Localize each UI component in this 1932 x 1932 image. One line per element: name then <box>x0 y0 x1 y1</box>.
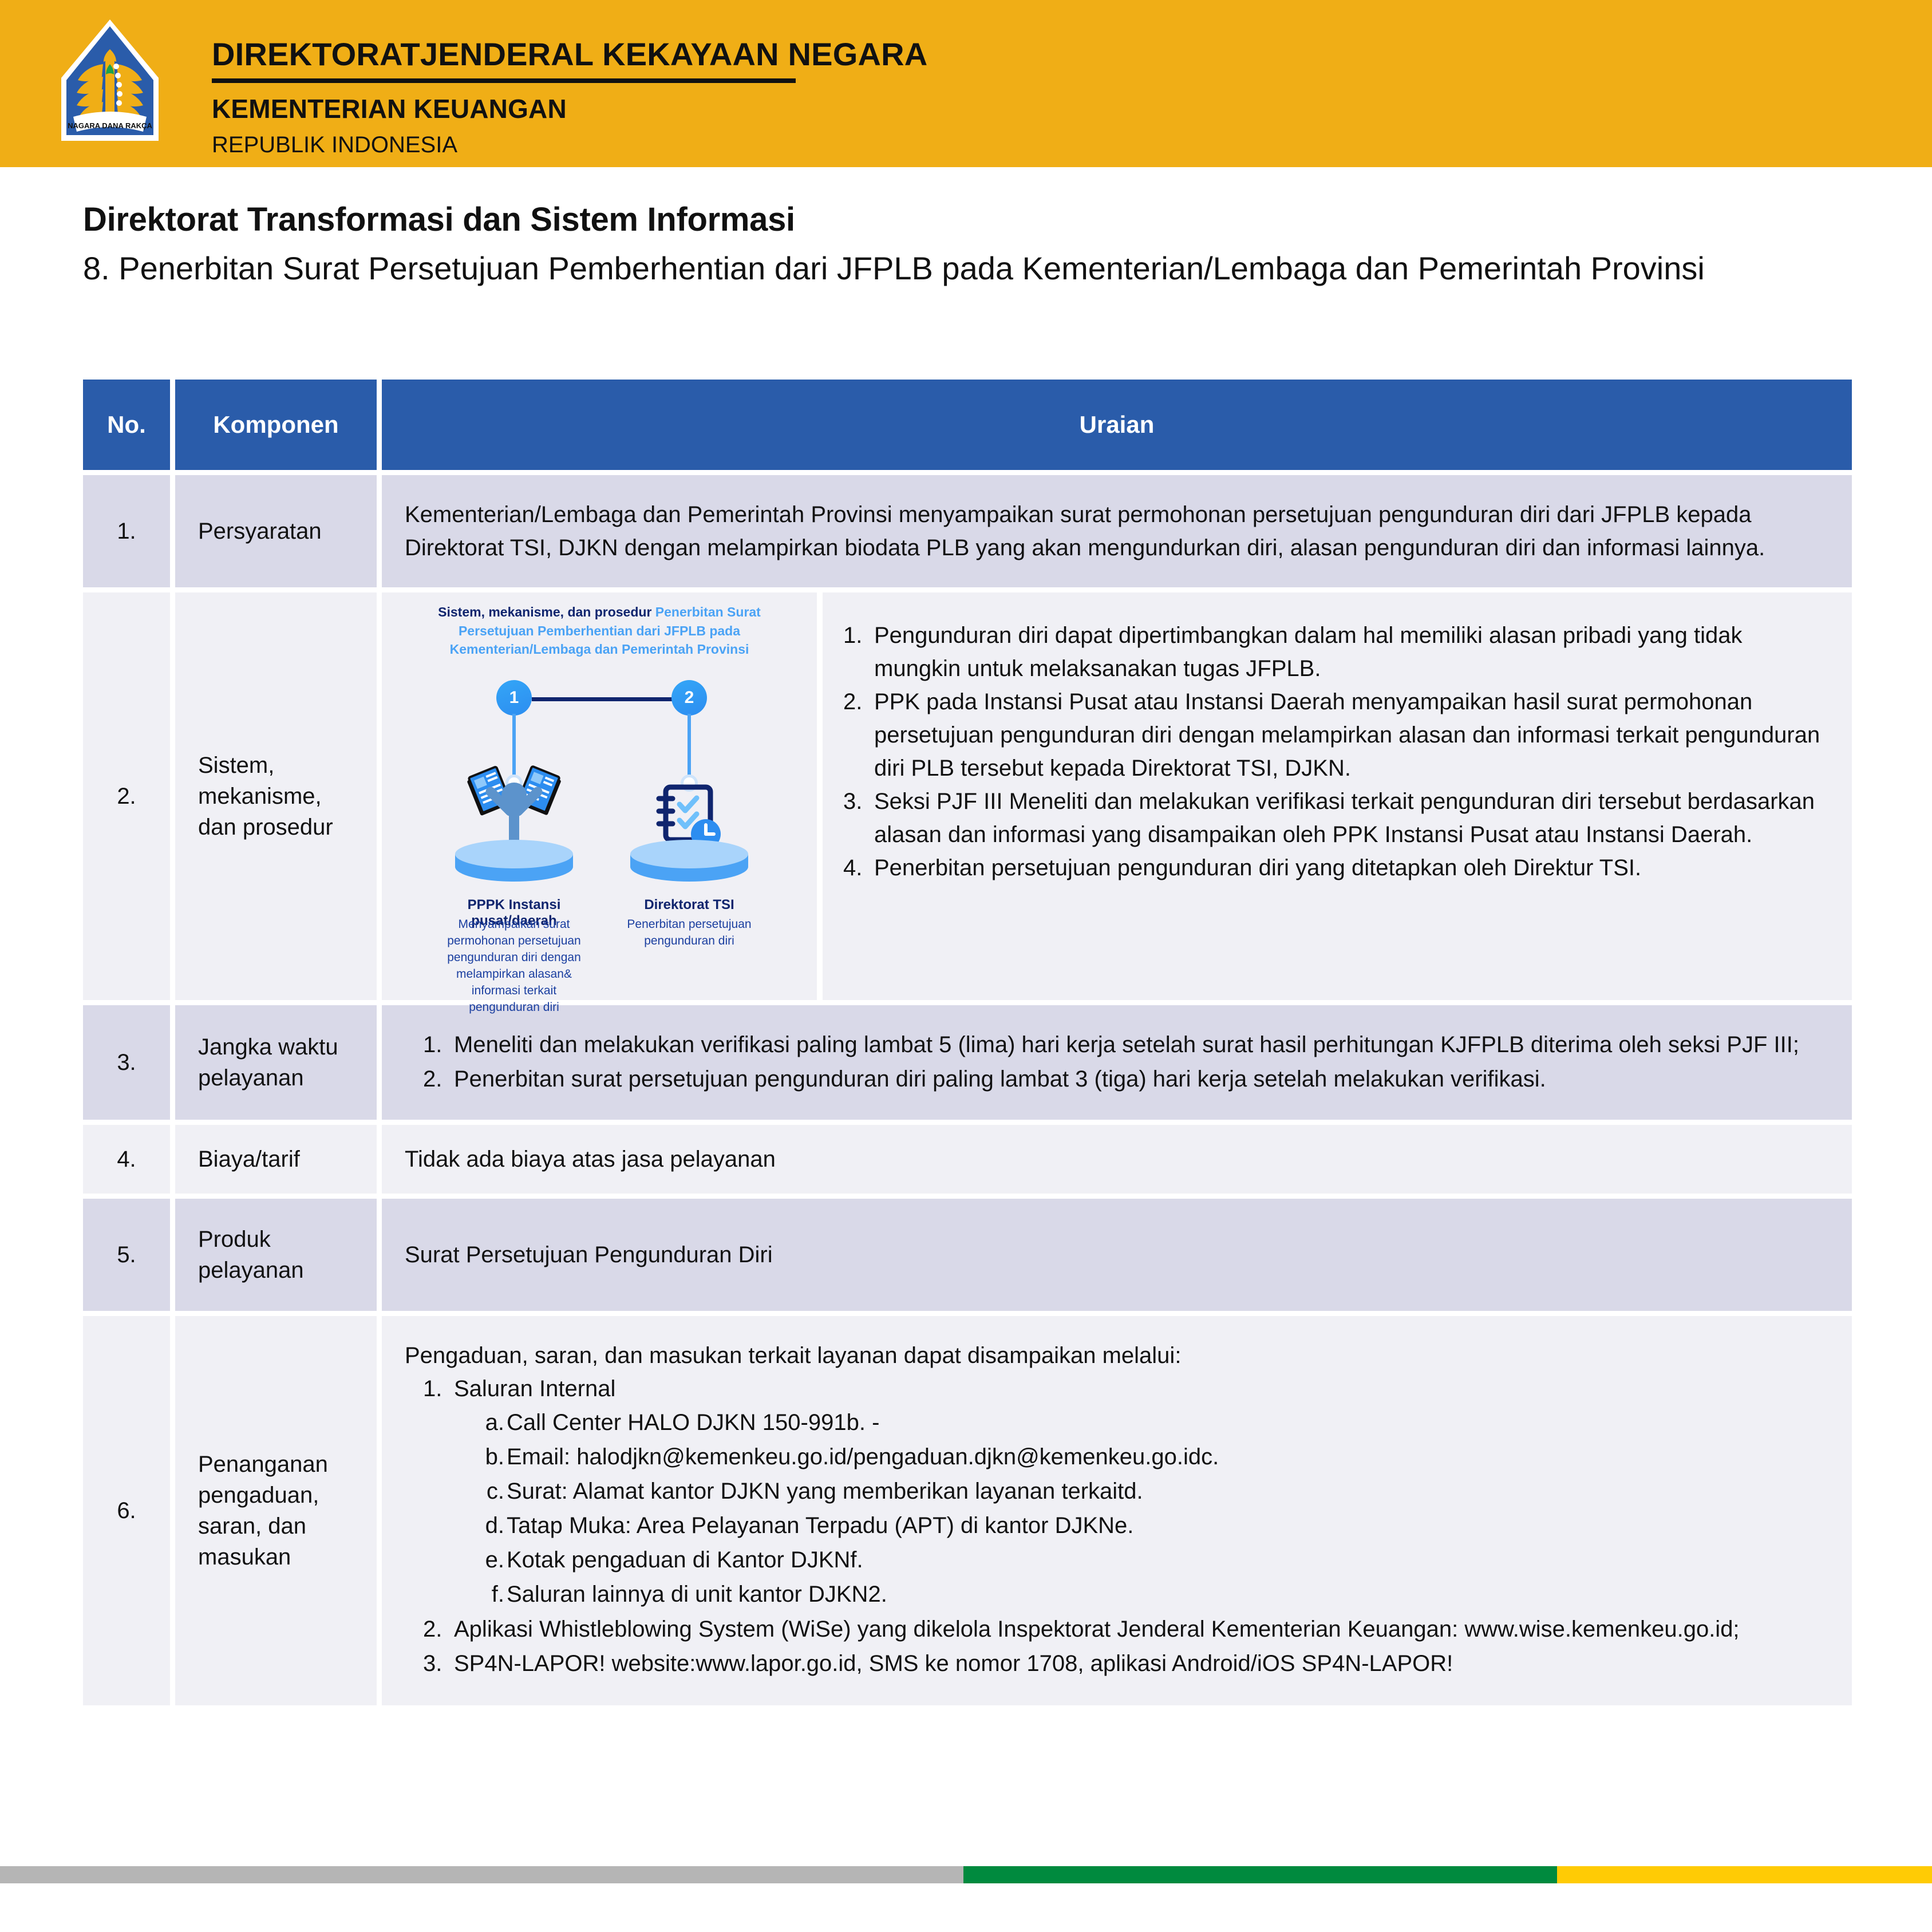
header-title-djkn: DIREKTORATJENDERAL KEKAYAAN NEGARA <box>212 35 927 73</box>
diagram-step-1-description: Menyampaikan surat permohonan persetujua… <box>437 916 591 1016</box>
row-component-label: Sistem, mekanisme, dan prosedur <box>198 750 354 843</box>
complaint-channel-list: Saluran Internal Call Center HALO DJKN 1… <box>423 1372 1829 1680</box>
page-subtitle: 8. Penerbitan Surat Persetujuan Pemberhe… <box>83 249 1795 288</box>
internal-channel-sublist: Call Center HALO DJKN 150-991b. - Email:… <box>480 1405 1829 1611</box>
pedestal-2 <box>630 840 748 889</box>
mechanism-steps-list: Pengunduran diri dapat dipertimbangkan d… <box>823 592 1852 1000</box>
list-item: Email: halodjkn@kemenkeu.go.id/pengaduan… <box>480 1440 1829 1474</box>
table-row: 6. Penanganan pengaduan, saran, dan masu… <box>83 1316 1852 1705</box>
header-title-kemenkeu: KEMENTERIAN KEUANGAN <box>212 93 927 124</box>
list-item: Tatap Muka: Area Pelayanan Terpadu (APT)… <box>480 1508 1829 1543</box>
list-item: PPK pada Instansi Pusat atau Instansi Da… <box>843 685 1823 785</box>
footer-segment-yellow <box>1557 1866 1932 1883</box>
list-item: Surat: Alamat kantor DJKN yang memberika… <box>480 1474 1829 1508</box>
row-number-cell: 1. <box>83 475 170 587</box>
page-footer-bar <box>0 1866 1932 1883</box>
process-flow-diagram: Sistem, mekanisme, dan prosedur Penerbit… <box>382 592 823 1000</box>
row-component-label: Produk pelayanan <box>198 1224 354 1286</box>
connector-line-1-2 <box>532 697 675 701</box>
list-item: Saluran lainnya di unit kantor DJKN2. <box>480 1577 1829 1611</box>
row-component-cell: Biaya/tarif <box>175 1125 377 1194</box>
list-item: Penerbitan surat persetujuan pengunduran… <box>423 1062 1799 1096</box>
table-header-no: No. <box>83 380 170 470</box>
row-description-cell: Meneliti dan melakukan verifikasi paling… <box>382 1005 1852 1120</box>
row-description-cell: Tidak ada biaya atas jasa pelayanan <box>382 1125 1852 1194</box>
diagram-title-dark: Sistem, mekanisme, dan prosedur <box>438 605 651 619</box>
table-row: 5. Produk pelayanan Surat Persetujuan Pe… <box>83 1199 1852 1311</box>
row-component-label: Penanganan pengaduan, saran, dan masukan <box>198 1449 354 1573</box>
row-component-label: Jangka waktu pelayanan <box>198 1032 354 1093</box>
table-row: 3. Jangka waktu pelayanan Meneliti dan m… <box>83 1005 1852 1120</box>
diagram-step-1-badge: 1 <box>496 680 532 716</box>
page-header-band: NAGARA DANA RAKÇA DIREKTORATJENDERAL KEK… <box>0 0 1932 167</box>
row-component-label: Persyaratan <box>198 516 322 547</box>
row-description-text: Tidak ada biaya atas jasa pelayanan <box>405 1143 776 1176</box>
row-number: 2. <box>117 784 136 809</box>
row-description-cell: Sistem, mekanisme, dan prosedur Penerbit… <box>382 592 1852 1000</box>
list-item: Saluran Internal Call Center HALO DJKN 1… <box>423 1372 1829 1611</box>
diagram-canvas: 1 2 <box>382 669 817 915</box>
table-row: 1. Persyaratan Kementerian/Lembaga dan P… <box>83 475 1852 587</box>
row-number-cell: 2. <box>83 592 170 1000</box>
row-description-text: Surat Persetujuan Pengunduran Diri <box>405 1238 773 1271</box>
row-component-cell: Persyaratan <box>175 475 377 587</box>
row-number-cell: 6. <box>83 1316 170 1705</box>
row-description-cell: Kementerian/Lembaga dan Pemerintah Provi… <box>382 475 1852 587</box>
diagram-step-2-description: Penerbitan persetujuan pengunduran diri <box>615 916 763 950</box>
connector-vertical-2 <box>688 714 691 781</box>
logo-motto-text: NAGARA DANA RAKÇA <box>68 121 152 130</box>
header-title-republik: REPUBLIK INDONESIA <box>212 132 927 158</box>
list-item: Call Center HALO DJKN 150-991b. - <box>480 1405 1829 1440</box>
service-time-list: Meneliti dan melakukan verifikasi paling… <box>423 1028 1799 1097</box>
row-number-cell: 3. <box>83 1005 170 1120</box>
list-item: SP4N-LAPOR! website:www.lapor.go.id, SMS… <box>423 1647 1829 1680</box>
complaint-intro-text: Pengaduan, saran, dan masukan terkait la… <box>405 1339 1829 1372</box>
row-number: 5. <box>117 1242 136 1268</box>
list-item: Aplikasi Whistleblowing System (WiSe) ya… <box>423 1613 1829 1646</box>
header-divider-rule <box>212 78 796 83</box>
footer-segment-green <box>963 1866 1557 1883</box>
table-header-komponen: Komponen <box>175 380 377 470</box>
table-header-row: No. Komponen Uraian <box>83 380 1852 470</box>
list-item: Seksi PJF III Meneliti dan melakukan ver… <box>843 785 1823 851</box>
row-component-cell: Jangka waktu pelayanan <box>175 1005 377 1120</box>
diagram-step-2-badge: 2 <box>671 680 707 716</box>
row-number-cell: 5. <box>83 1199 170 1311</box>
list-item: Pengunduran diri dapat dipertimbangkan d… <box>843 619 1823 685</box>
title-block: Direktorat Transformasi dan Sistem Infor… <box>83 200 1800 288</box>
kemenkeu-logo: NAGARA DANA RAKÇA <box>41 16 179 153</box>
row-component-cell: Penanganan pengaduan, saran, dan masukan <box>175 1316 377 1705</box>
diagram-title: Sistem, mekanisme, dan prosedur Penerbit… <box>382 603 817 659</box>
pedestal-1 <box>455 840 573 889</box>
page-title: Direktorat Transformasi dan Sistem Infor… <box>83 200 1800 239</box>
list-item-label: Saluran Internal <box>454 1376 615 1401</box>
table-header-uraian: Uraian <box>382 380 1852 470</box>
header-text-block: DIREKTORATJENDERAL KEKAYAAN NEGARA KEMEN… <box>212 35 927 158</box>
row-component-cell: Produk pelayanan <box>175 1199 377 1311</box>
diagram-step-2-caption: Direktorat TSI <box>622 897 756 913</box>
list-item: Kotak pengaduan di Kantor DJKNf. <box>480 1543 1829 1577</box>
table-row: 4. Biaya/tarif Tidak ada biaya atas jasa… <box>83 1125 1852 1194</box>
row-number-cell: 4. <box>83 1125 170 1194</box>
row-description-cell: Surat Persetujuan Pengunduran Diri <box>382 1199 1852 1311</box>
row-component-cell: Sistem, mekanisme, dan prosedur <box>175 592 377 1000</box>
row-component-label: Biaya/tarif <box>198 1144 300 1175</box>
row-number: 1. <box>117 519 136 544</box>
footer-segment-gray <box>0 1866 963 1883</box>
row-number: 3. <box>117 1050 136 1076</box>
service-standard-table: No. Komponen Uraian 1. Persyaratan Kemen… <box>83 380 1852 1710</box>
table-row: 2. Sistem, mekanisme, dan prosedur Siste… <box>83 592 1852 1000</box>
row-number: 4. <box>117 1147 136 1172</box>
row-description-cell: Pengaduan, saran, dan masukan terkait la… <box>382 1316 1852 1705</box>
list-item: Meneliti dan melakukan verifikasi paling… <box>423 1028 1799 1061</box>
list-item: Penerbitan persetujuan pengunduran diri … <box>843 851 1823 884</box>
row-description-text: Kementerian/Lembaga dan Pemerintah Provi… <box>405 498 1829 564</box>
row-number: 6. <box>117 1498 136 1524</box>
